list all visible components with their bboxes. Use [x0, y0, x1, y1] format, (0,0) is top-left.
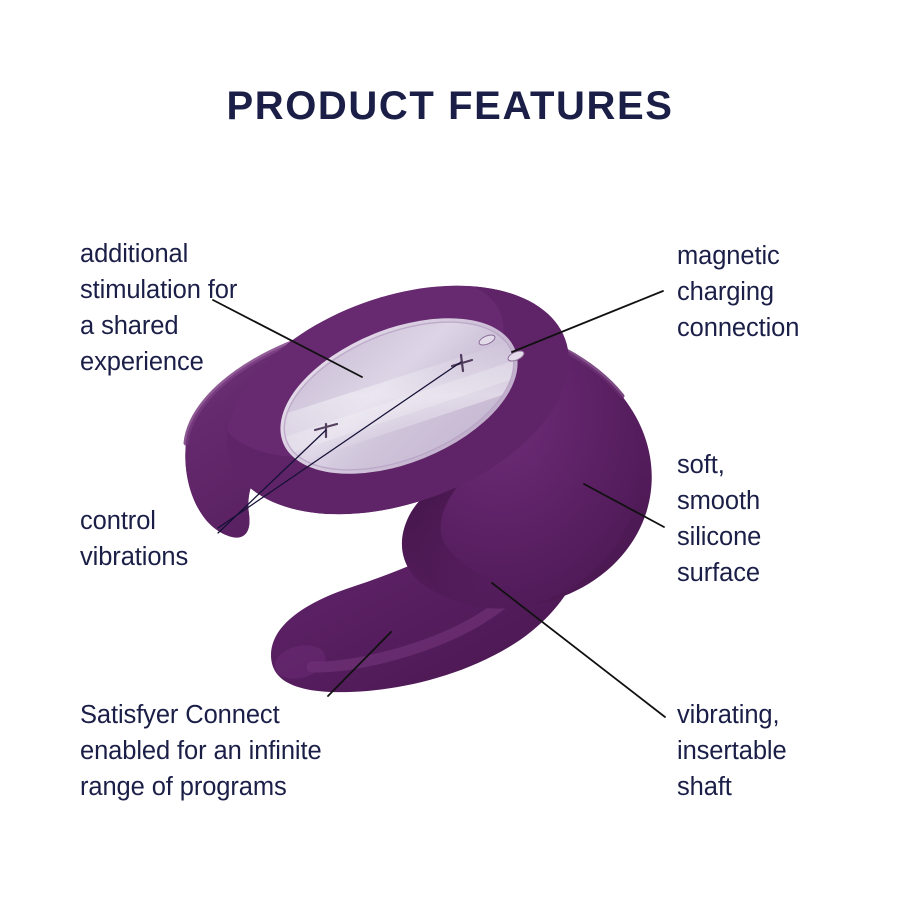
- callout-additional-stimulation: additional stimulation for a shared expe…: [80, 236, 380, 380]
- callout-soft-smooth-silicone: soft, smooth silicone surface: [677, 447, 887, 591]
- callout-control-vibrations: control vibrations: [80, 503, 340, 575]
- callout-vibrating-insertable-shaft: vibrating, insertable shaft: [677, 697, 887, 805]
- product-features-infographic: PRODUCT FEATURES: [0, 0, 900, 900]
- callout-satisfyer-connect: Satisfyer Connect enabled for an infinit…: [80, 697, 440, 805]
- callout-magnetic-charging: magnetic charging connection: [677, 238, 897, 346]
